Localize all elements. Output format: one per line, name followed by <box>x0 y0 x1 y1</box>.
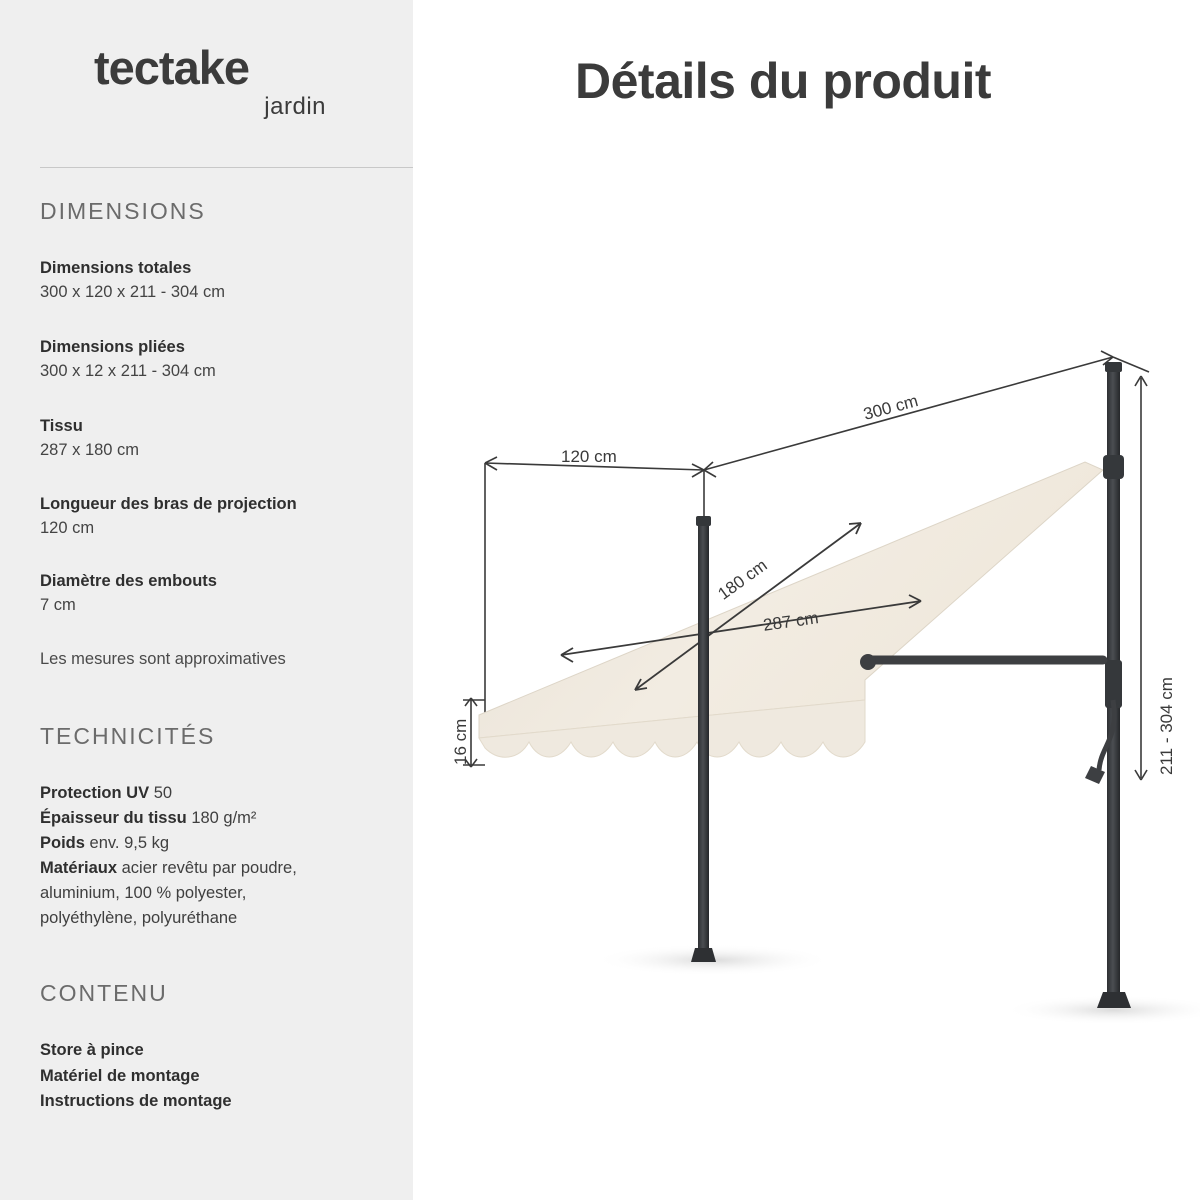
dimension-item-4: Diamètre des embouts 7 cm <box>40 570 400 618</box>
tech-item-2: Poids env. 9,5 kg <box>40 831 340 856</box>
awning-fabric <box>479 462 1103 738</box>
measures-note: Les mesures sont approximatives <box>40 650 286 669</box>
dimension-label-3: Longueur des bras de projection <box>40 493 400 517</box>
dimension-value-4: 7 cm <box>40 594 400 618</box>
tech-value-1: 180 g/m² <box>191 809 256 827</box>
dimension-item-1: Dimensions pliées 300 x 12 x 211 - 304 c… <box>40 336 400 384</box>
right-pole-joint <box>1103 455 1124 479</box>
dimension-value-1: 300 x 12 x 211 - 304 cm <box>40 360 400 384</box>
content-item-2: Instructions de montage <box>40 1089 400 1115</box>
right-pole-foot <box>1097 992 1131 1008</box>
section-heading-technicites: TECHNICITÉS <box>40 723 215 750</box>
content-list: Store à pince Matériel de montage Instru… <box>40 1038 400 1115</box>
crank-handle <box>1085 766 1105 784</box>
section-heading-dimensions: DIMENSIONS <box>40 198 206 225</box>
dimension-label-1: Dimensions pliées <box>40 336 400 360</box>
content-item-0: Store à pince <box>40 1038 400 1064</box>
dimension-value-3: 120 cm <box>40 517 400 541</box>
product-diagram: 300 cm 120 cm 180 cm 287 cm 16 cm 211 - … <box>413 0 1200 1200</box>
arm-joint <box>860 654 876 670</box>
dimension-item-0: Dimensions totales 300 x 120 x 211 - 304… <box>40 257 400 305</box>
dim-label-height: 211 - 304 cm <box>1157 677 1177 775</box>
section-heading-contenu: CONTENU <box>40 980 168 1007</box>
dimension-value-2: 287 x 180 cm <box>40 439 400 463</box>
tech-list: Protection UV 50 Épaisseur du tissu 180 … <box>40 781 340 931</box>
dim-label-16: 16 cm <box>451 719 471 765</box>
tech-item-1: Épaisseur du tissu 180 g/m² <box>40 806 340 831</box>
dimension-label-4: Diamètre des embouts <box>40 570 400 594</box>
dimension-label-0: Dimensions totales <box>40 257 400 281</box>
tech-item-0: Protection UV 50 <box>40 781 340 806</box>
dim-300 <box>704 351 1113 477</box>
tech-item-3: Matériaux acier revêtu par poudre, alumi… <box>40 856 340 931</box>
brand-name: tectake <box>94 44 394 91</box>
brand-subtitle: jardin <box>94 93 326 121</box>
dimension-item-2: Tissu 287 x 180 cm <box>40 415 400 463</box>
tech-label-0: Protection UV <box>40 784 149 802</box>
left-pole-foot <box>691 948 716 962</box>
tech-label-1: Épaisseur du tissu <box>40 809 187 827</box>
brand-logo: tectake jardin <box>94 44 394 121</box>
dimension-item-3: Longueur des bras de projection 120 cm <box>40 493 400 541</box>
header-divider <box>40 167 413 168</box>
tech-label-3: Matériaux <box>40 859 117 877</box>
dimension-value-0: 300 x 120 x 211 - 304 cm <box>40 281 400 305</box>
product-details-page: tectake jardin DIMENSIONS Dimensions tot… <box>0 0 1200 1200</box>
dim-label-120: 120 cm <box>561 447 617 467</box>
left-pole <box>698 520 709 950</box>
left-pole-cap <box>696 516 711 526</box>
content-item-1: Matériel de montage <box>40 1064 400 1090</box>
right-pole-cap <box>1105 362 1122 372</box>
tech-value-0: 50 <box>154 784 172 802</box>
tech-label-2: Poids <box>40 834 85 852</box>
awning-illustration-svg <box>413 0 1200 1200</box>
dimension-label-2: Tissu <box>40 415 400 439</box>
tech-value-2: env. 9,5 kg <box>90 834 170 852</box>
